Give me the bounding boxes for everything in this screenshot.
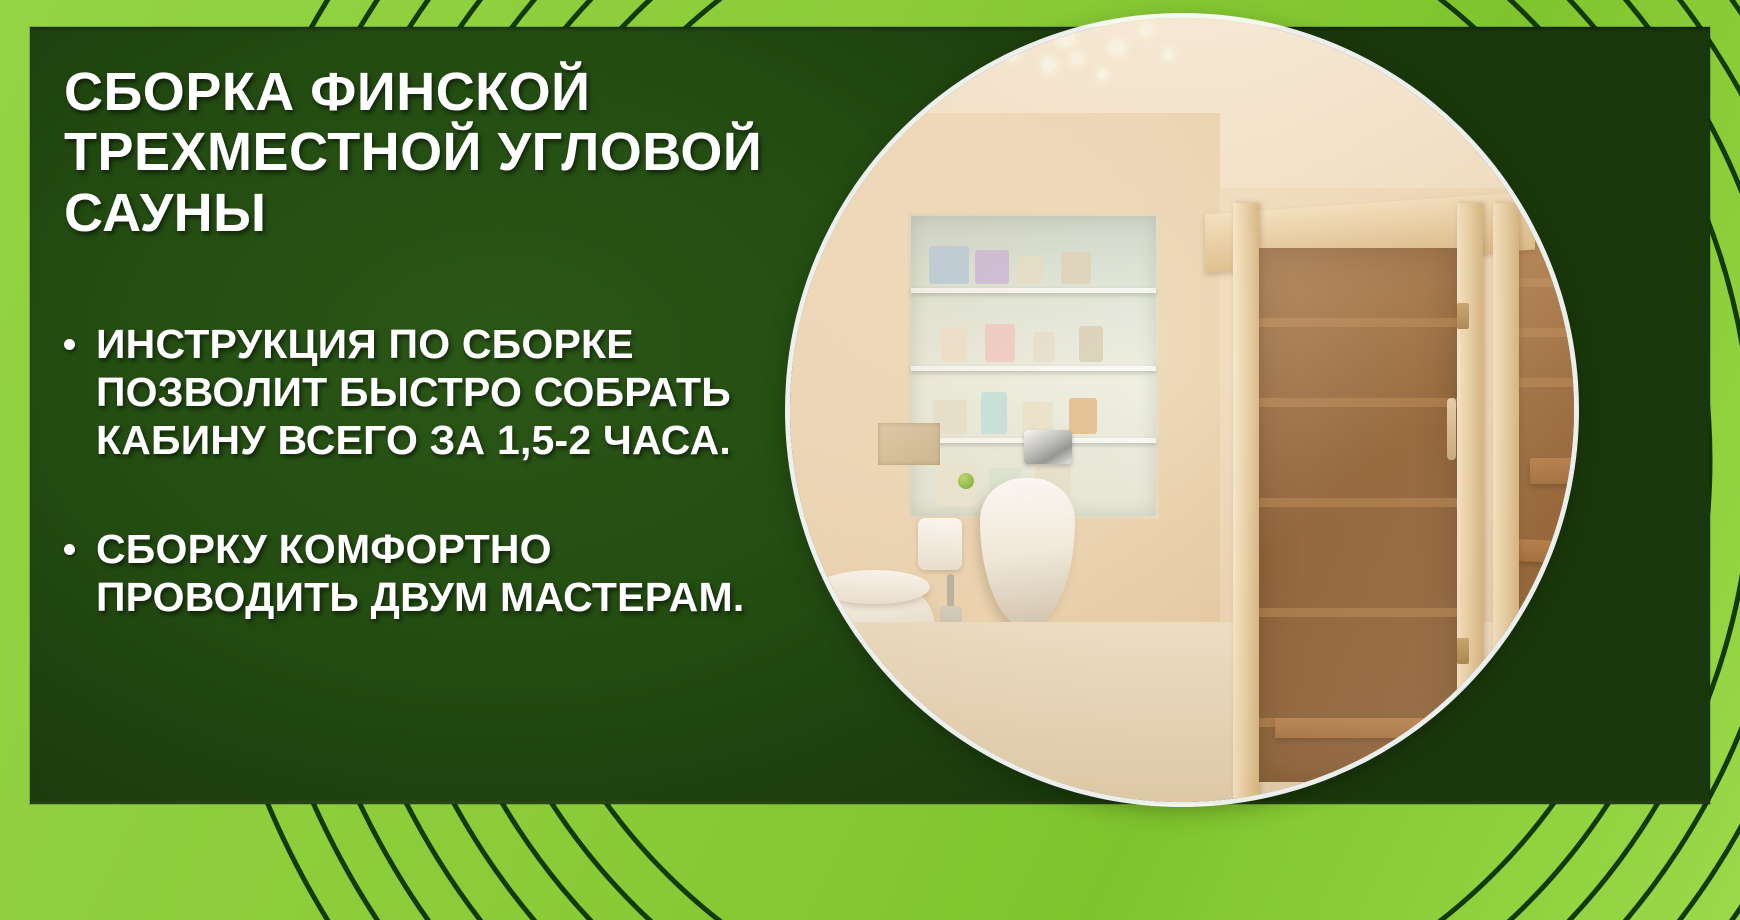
bullet-dot-icon — [64, 544, 75, 555]
bullet-dot-icon — [64, 339, 75, 350]
door-frame-left — [1233, 203, 1259, 802]
sauna-door — [1255, 248, 1460, 782]
glass-cabinet — [908, 213, 1159, 519]
text-column: СБОРКА ФИНСКОЙ ТРЕХМЕСТНОЙ УГЛОВОЙ САУНЫ… — [64, 62, 804, 621]
slide-title: СБОРКА ФИНСКОЙ ТРЕХМЕСТНОЙ УГЛОВОЙ САУНЫ — [64, 62, 804, 243]
bullet-item-2: СБОРКУ КОМФОРТНО ПРОВОДИТЬ ДВУМ МАСТЕРАМ… — [64, 526, 804, 621]
bullet-text-1: ИНСТРУКЦИЯ ПО СБОРКЕ ПОЗВОЛИТ БЫСТРО СОБ… — [96, 321, 731, 462]
door-hinge-bottom — [1457, 638, 1469, 664]
door-hinge-top — [1457, 303, 1469, 329]
slide-canvas: СБОРКА ФИНСКОЙ ТРЕХМЕСТНОЙ УГЛОВОЙ САУНЫ… — [0, 0, 1740, 920]
sauna-bathroom-scene — [790, 18, 1574, 802]
chandelier-icon — [960, 18, 1210, 126]
bullet-item-1: ИНСТРУКЦИЯ ПО СБОРКЕ ПОЗВОЛИТ БЫСТРО СОБ… — [64, 321, 804, 464]
circular-photo — [790, 18, 1574, 802]
wall-plate — [878, 423, 940, 465]
bullet-list: ИНСТРУКЦИЯ ПО СБОРКЕ ПОЗВОЛИТ БЫСТРО СОБ… — [64, 321, 804, 621]
bullet-text-2: СБОРКУ КОМФОРТНО ПРОВОДИТЬ ДВУМ МАСТЕРАМ… — [96, 526, 744, 620]
sauna-cabin — [1185, 98, 1574, 802]
toilet-paper-holder — [918, 518, 962, 570]
cabin-corner-post — [1493, 203, 1519, 802]
flush-plate — [1024, 430, 1072, 464]
green-knob — [958, 473, 974, 489]
photo-clip — [790, 18, 1574, 802]
toilet-lid — [818, 570, 930, 604]
door-handle — [1447, 398, 1456, 460]
door-frame-right — [1457, 203, 1483, 802]
